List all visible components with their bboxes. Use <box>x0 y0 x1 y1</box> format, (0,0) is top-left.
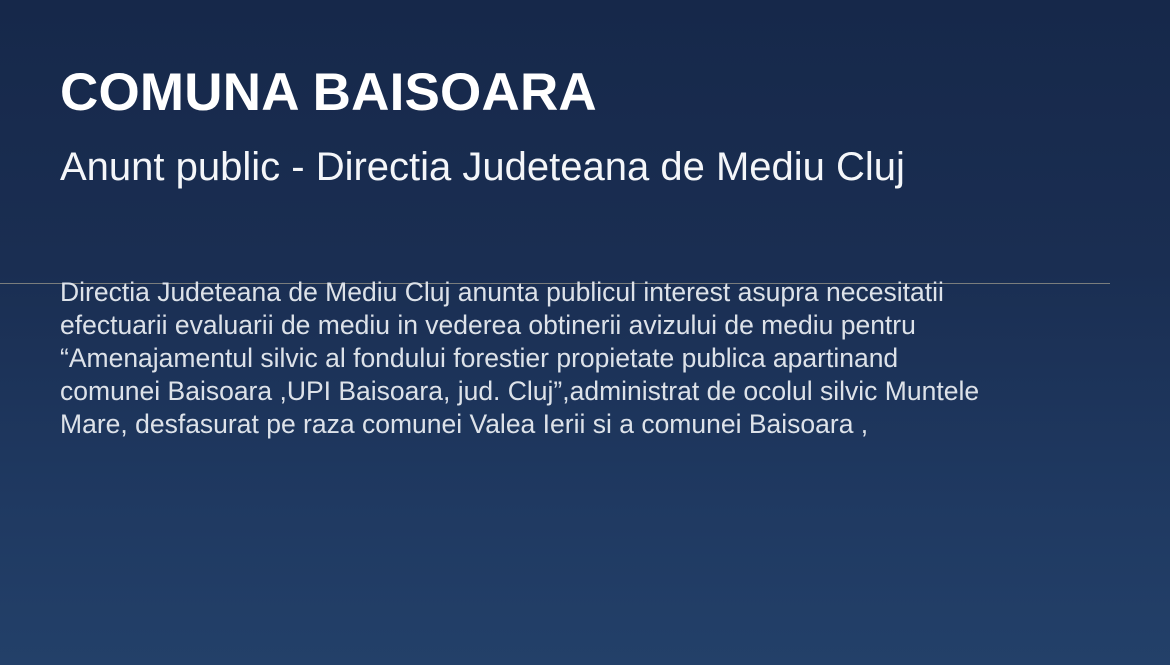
slide-canvas: COMUNA BAISOARA Anunt public - Directia … <box>0 0 1170 665</box>
page-title: COMUNA BAISOARA <box>60 62 1120 124</box>
slide-subtitle: Anunt public - Directia Judeteana de Med… <box>60 143 990 191</box>
slide-body-text: Directia Judeteana de Mediu Cluj anunta … <box>60 276 990 441</box>
